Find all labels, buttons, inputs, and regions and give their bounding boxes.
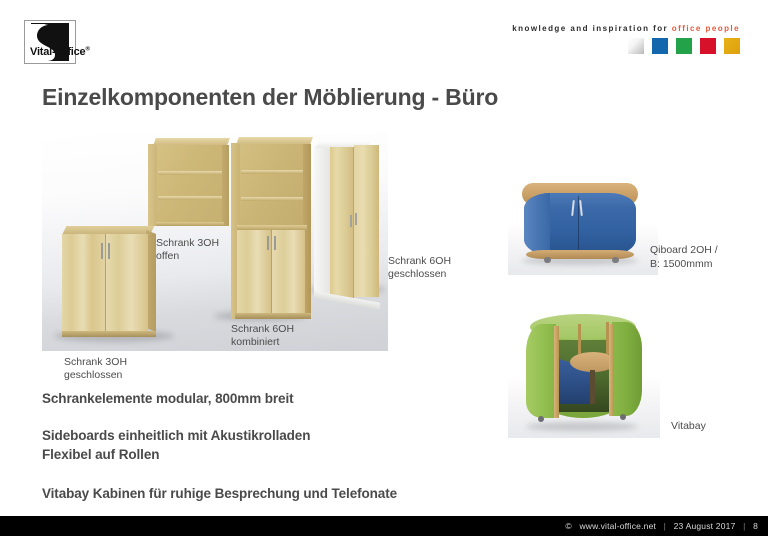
vitabay-image [508,300,660,438]
label-qiboard-2oh-line2: B: 1500mmm [650,257,718,271]
cabinet-interior-back [157,145,223,226]
swatch-blue [652,38,668,54]
label-schrank-3oh-geschlossen-line1: Schrank 3OH [64,356,127,369]
brand-color-swatches [628,38,740,54]
vitabay-panel-right [612,322,642,416]
qiboard-castor [544,257,551,263]
footer-date: 23 August 2017 [674,521,736,531]
cabinet-door-right [354,145,379,297]
cabinet-schrank-3oh-geschlossen [62,226,160,338]
cabinet-door-right [272,230,305,315]
cabinet-handle-left [101,243,103,259]
label-schrank-6oh-kombiniert: Schrank 6OH kombiniert [231,323,294,349]
body-line-2: Sideboards einheitlich mit Akustikrollad… [42,428,310,443]
cabinet-door-left [62,234,106,333]
vitabay-table-stem [590,370,595,404]
cabinet-lineup-image: Schrank 3OH offen Schrank 6OH kombiniert [42,133,388,351]
cabinet-handle-left [350,215,352,227]
cabinet-side-panel [148,144,157,226]
brand-logo[interactable]: Vital-Office® [24,20,94,62]
brand-tagline: knowledge and inspiration for office peo… [512,24,740,33]
cabinet-side-panel [222,145,229,226]
vitabay-edge-left [554,326,559,418]
body-line-4: Vitabay Kabinen für ruhige Besprechung u… [42,486,397,501]
footer-page-number: 8 [753,521,758,531]
logo-wordmark-text: Vital-Office [30,46,85,58]
label-schrank-3oh-offen-line1: Schrank 3OH [156,237,219,250]
cabinet-plinth [62,331,156,337]
footer-bar: © www.vital-office.net | 23 August 2017 … [0,516,768,536]
cabinet-shelf [158,196,222,200]
swatch-white [628,38,644,54]
swatch-red [700,38,716,54]
cabinet-schrank-6oh-kombiniert [231,137,315,319]
vitabay-divider [606,322,609,354]
vitabay-foot [620,414,626,420]
vitabay-panel-left [526,324,556,418]
vitabay-foot [538,416,544,422]
body-line-1: Schrankelemente modular, 800mm breit [42,391,294,406]
vitabay-edge-right [609,324,614,416]
footer-copyright: © [565,521,571,531]
page-header: Vital-Office® knowledge and inspiration … [0,0,768,72]
cabinet-handle-right [108,243,110,259]
cabinet-door-right [106,234,148,333]
logo-wordmark: Vital-Office® [30,46,90,58]
label-schrank-6oh-geschlossen: Schrank 6OH geschlossen [388,255,451,281]
cabinet-shelf [241,170,303,174]
label-schrank-6oh-kombiniert-line1: Schrank 6OH [231,323,294,336]
swatch-green [676,38,692,54]
cabinet-handle-left [267,236,269,250]
label-qiboard-2oh-line1: Qiboard 2OH / [650,243,718,257]
page-title: Einzelkomponenten der Möblierung - Büro [42,84,498,111]
swatch-gold [724,38,740,54]
label-schrank-3oh-offen-line2: offen [156,250,219,263]
label-schrank-6oh-geschlossen-line1: Schrank 6OH [388,255,451,268]
qiboard-2oh-image [508,160,658,275]
label-schrank-6oh-geschlossen-line2: geschlossen [388,268,451,281]
label-vitabay-line1: Vitabay [671,419,706,433]
cabinet-handle-right [274,236,276,250]
logo-registered-mark: ® [85,46,89,52]
floor-shadow [526,422,638,431]
footer-separator: | [659,521,671,531]
cabinet-shelf [158,171,222,175]
cabinet-bottom-panel [156,222,224,226]
label-schrank-3oh-geschlossen: Schrank 3OH geschlossen [64,356,127,382]
label-schrank-6oh-kombiniert-line2: kombiniert [231,336,294,349]
label-qiboard-2oh: Qiboard 2OH / B: 1500mmm [650,243,718,271]
footer-separator: | [738,521,750,531]
body-line-3: Flexibel auf Rollen [42,447,159,462]
cabinet-shelf [241,197,303,201]
qiboard-end-left [524,193,550,255]
qiboard-castor [612,257,619,263]
label-schrank-3oh-offen: Schrank 3OH offen [156,237,219,263]
cabinet-side-panel-white [314,145,331,298]
footer-text: © www.vital-office.net | 23 August 2017 … [565,516,758,536]
tagline-accent: office people [672,24,740,33]
tagline-primary: knowledge and inspiration for [512,24,668,33]
cabinet-plinth [235,313,311,319]
footer-website[interactable]: www.vital-office.net [579,521,656,531]
cabinet-schrank-6oh-geschlossen [314,141,388,299]
cabinet-interior-back [240,144,304,228]
label-schrank-3oh-geschlossen-line2: geschlossen [64,369,127,382]
vitabay-divider [578,324,581,354]
cabinet-schrank-3oh-offen [148,138,230,226]
label-vitabay: Vitabay [671,419,706,433]
cabinet-handle-right [355,213,357,225]
